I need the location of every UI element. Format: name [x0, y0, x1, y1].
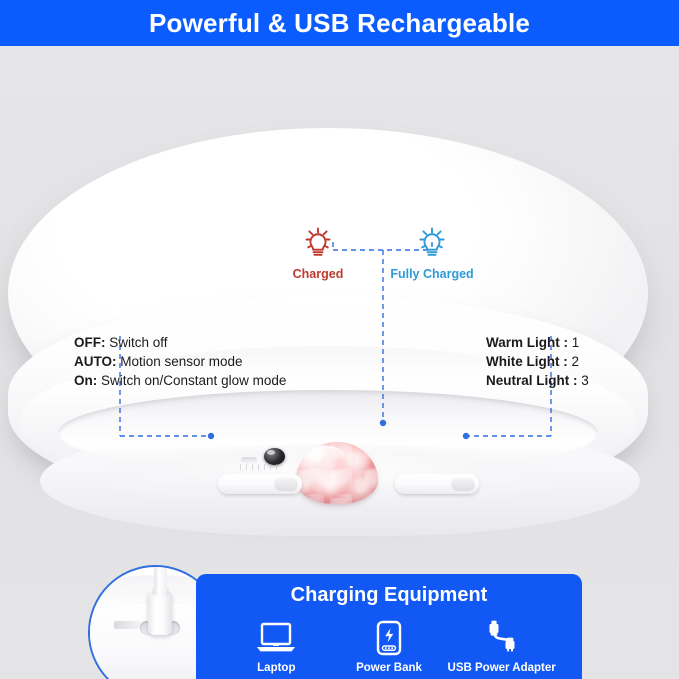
charging-item-label: Laptop — [257, 662, 295, 674]
spec-value: 2 — [568, 354, 579, 369]
charging-item-usb-adapter: USB Power Adapter — [450, 618, 554, 674]
spec-line: Warm Light : 1 — [486, 333, 589, 352]
switch-knob — [274, 477, 298, 491]
spec-line: On: Switch on/Constant glow mode — [74, 371, 286, 390]
charging-equipment-panel: Charging Equipment Laptop — [196, 574, 582, 679]
spec-line: White Light : 2 — [486, 352, 589, 371]
charging-equipment-title: Charging Equipment — [196, 584, 582, 607]
inset-brand-marking — [114, 621, 142, 629]
spec-value: Switch on/Constant glow mode — [97, 373, 286, 388]
spec-value: 1 — [568, 335, 579, 350]
bulb-icon — [412, 222, 452, 262]
power-bank-icon — [373, 618, 405, 658]
switch-knob — [451, 477, 475, 491]
usb-cable-icon — [481, 618, 523, 658]
spec-label: Neutral Light : — [486, 373, 578, 388]
indicator-label: Charged — [293, 267, 344, 281]
spec-line: AUTO: Motion sensor mode — [74, 352, 286, 371]
spec-label: Warm Light : — [486, 335, 568, 350]
indicator-charged: Charged — [278, 222, 358, 281]
light-colors-block: Warm Light : 1 White Light : 2 Neutral L… — [486, 333, 589, 390]
laptop-icon — [254, 618, 298, 658]
header-banner: Powerful & USB Rechargeable — [0, 0, 679, 46]
charging-item-laptop: Laptop — [224, 618, 328, 674]
bulb-icon — [298, 222, 338, 262]
spec-value: Motion sensor mode — [117, 354, 243, 369]
dome-gloss — [308, 446, 344, 462]
inset-usb-cable — [154, 565, 167, 597]
content-area: Charged Fully Charged — [0, 46, 679, 679]
indicator-fully-charged: Fully Charged — [384, 222, 480, 281]
inset-usb-plug — [148, 591, 172, 635]
mode-switch[interactable] — [218, 474, 302, 494]
spec-label: AUTO: — [74, 354, 117, 369]
page-title: Powerful & USB Rechargeable — [149, 8, 530, 39]
switch-ticks — [240, 464, 278, 470]
led-marking — [241, 457, 257, 464]
led-gloss — [267, 450, 275, 455]
spec-label: White Light : — [486, 354, 568, 369]
color-temperature-switch[interactable] — [395, 474, 479, 494]
charging-item-power-bank: Power Bank — [337, 618, 441, 674]
spec-value: Switch off — [106, 335, 168, 350]
charging-item-label: Power Bank — [356, 662, 422, 674]
charging-item-label: USB Power Adapter — [448, 662, 556, 674]
spec-label: On: — [74, 373, 97, 388]
spec-line: OFF: Switch off — [74, 333, 286, 352]
spec-value: 3 — [578, 373, 589, 388]
switch-modes-block: OFF: Switch off AUTO: Motion sensor mode… — [74, 333, 286, 390]
infographic-page: Powerful & USB Rechargeable — [0, 0, 679, 679]
charging-equipment-list: Laptop Power Bank — [220, 618, 558, 679]
spec-line: Neutral Light : 3 — [486, 371, 589, 390]
spec-label: OFF: — [74, 335, 106, 350]
indicator-label: Fully Charged — [390, 267, 473, 281]
